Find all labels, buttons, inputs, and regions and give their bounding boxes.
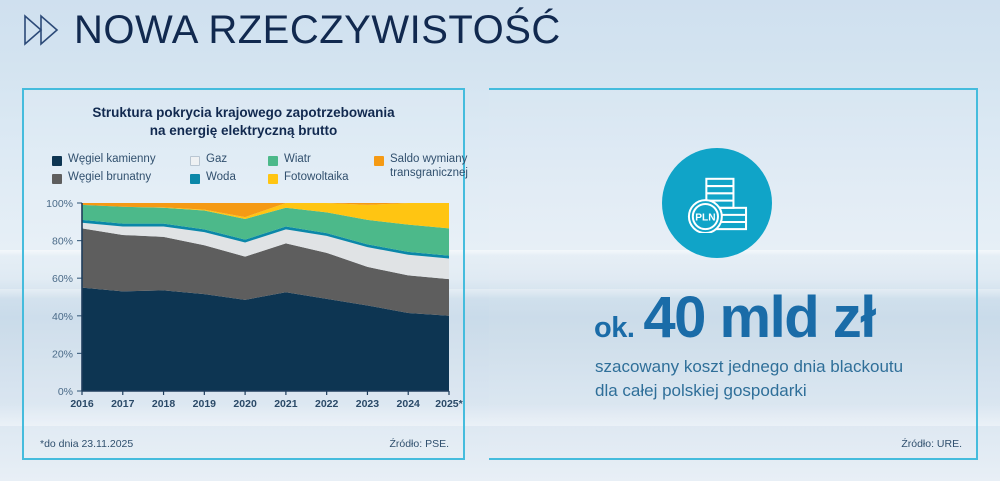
cost-panel: PLN ok. 40 mld zł szacowany koszt jedneg… <box>489 88 978 460</box>
legend-label-wegiel-kamienny: Węgiel kamienny <box>68 153 156 165</box>
y-axis-label: 20% <box>52 349 73 361</box>
legend-item-wiatr: Wiatr <box>268 153 374 166</box>
y-axis-label: 80% <box>52 236 73 248</box>
chart-title-line2: na energię elektryczną brutto <box>48 122 439 140</box>
pln-icon-label: PLN <box>695 212 715 223</box>
legend-item-wegiel-kamienny: Węgiel kamienny <box>52 153 190 166</box>
legend-label-woda: Woda <box>206 171 236 183</box>
stacked-area-chart: 0%20%40%60%80%100%2016201720182019202020… <box>24 197 467 419</box>
chart-plot-area: 0%20%40%60%80%100%2016201720182019202020… <box>24 197 463 419</box>
cost-source: Źródło: URE. <box>901 438 962 450</box>
legend-label-gaz: Gaz <box>206 153 227 165</box>
page-title: NOWA RZECZYWISTOŚĆ <box>74 10 561 50</box>
legend-item-wegiel-brunatny: Węgiel brunatny <box>52 171 190 184</box>
y-axis-label: 100% <box>46 198 73 210</box>
chart-title-line1: Struktura pokrycia krajowego zapotrzebow… <box>48 104 439 122</box>
legend-label-wegiel-brunatny: Węgiel brunatny <box>68 171 151 183</box>
legend-label-saldo-wymiany: Saldo wymiany transgranicznej <box>390 153 468 180</box>
legend-swatch-wiatr <box>268 156 278 166</box>
x-axis-label: 2024 <box>397 398 421 410</box>
legend-swatch-gaz <box>190 156 200 166</box>
legend-swatch-saldo-wymiany <box>374 156 384 166</box>
cost-prefix: ok. <box>594 312 634 345</box>
legend-swatch-woda <box>190 174 200 184</box>
x-axis-label: 2019 <box>193 398 217 410</box>
legend-item-woda: Woda <box>190 171 268 184</box>
chart-footnote: *do dnia 23.11.2025 <box>40 438 133 450</box>
legend-swatch-fotowoltaika <box>268 174 278 184</box>
x-axis-label: 2022 <box>315 398 339 410</box>
x-axis-label: 2021 <box>274 398 298 410</box>
chart-source: Źródło: PSE. <box>389 438 449 450</box>
chart-title: Struktura pokrycia krajowego zapotrzebow… <box>48 104 439 140</box>
cost-description: szacowany koszt jednego dnia blackoutu d… <box>595 355 925 403</box>
y-axis-label: 60% <box>52 274 73 286</box>
double-chevron-icon <box>22 13 60 47</box>
cost-figure: ok. 40 mld zł <box>594 290 875 345</box>
legend-item-saldo-wymiany: Saldo wymiany transgranicznej <box>374 153 468 180</box>
legend-swatch-wegiel-kamienny <box>52 156 62 166</box>
page-header: NOWA RZECZYWISTOŚĆ <box>22 10 561 50</box>
legend-swatch-wegiel-brunatny <box>52 174 62 184</box>
x-axis-label: 2020 <box>233 398 257 410</box>
x-axis-label: 2023 <box>356 398 380 410</box>
legend-label-wiatr: Wiatr <box>284 153 311 165</box>
pln-coins-icon: PLN <box>662 148 772 258</box>
y-axis-label: 40% <box>52 311 73 323</box>
x-axis-label: 2017 <box>111 398 135 410</box>
chart-legend: Węgiel kamienny Gaz Wiatr Saldo wymiany … <box>24 153 463 189</box>
x-axis-label: 2016 <box>70 398 94 410</box>
legend-item-fotowoltaika: Fotowoltaika <box>268 171 374 184</box>
chart-footer: *do dnia 23.11.2025 Źródło: PSE. <box>24 438 463 450</box>
legend-label-fotowoltaika: Fotowoltaika <box>284 171 349 183</box>
legend-item-gaz: Gaz <box>190 153 268 166</box>
cost-amount: 40 mld zł <box>643 290 874 345</box>
chart-panel: Struktura pokrycia krajowego zapotrzebow… <box>22 88 465 460</box>
x-axis-label: 2018 <box>152 398 176 410</box>
y-axis-label: 0% <box>58 386 73 398</box>
x-axis-label: 2025* <box>435 398 463 410</box>
